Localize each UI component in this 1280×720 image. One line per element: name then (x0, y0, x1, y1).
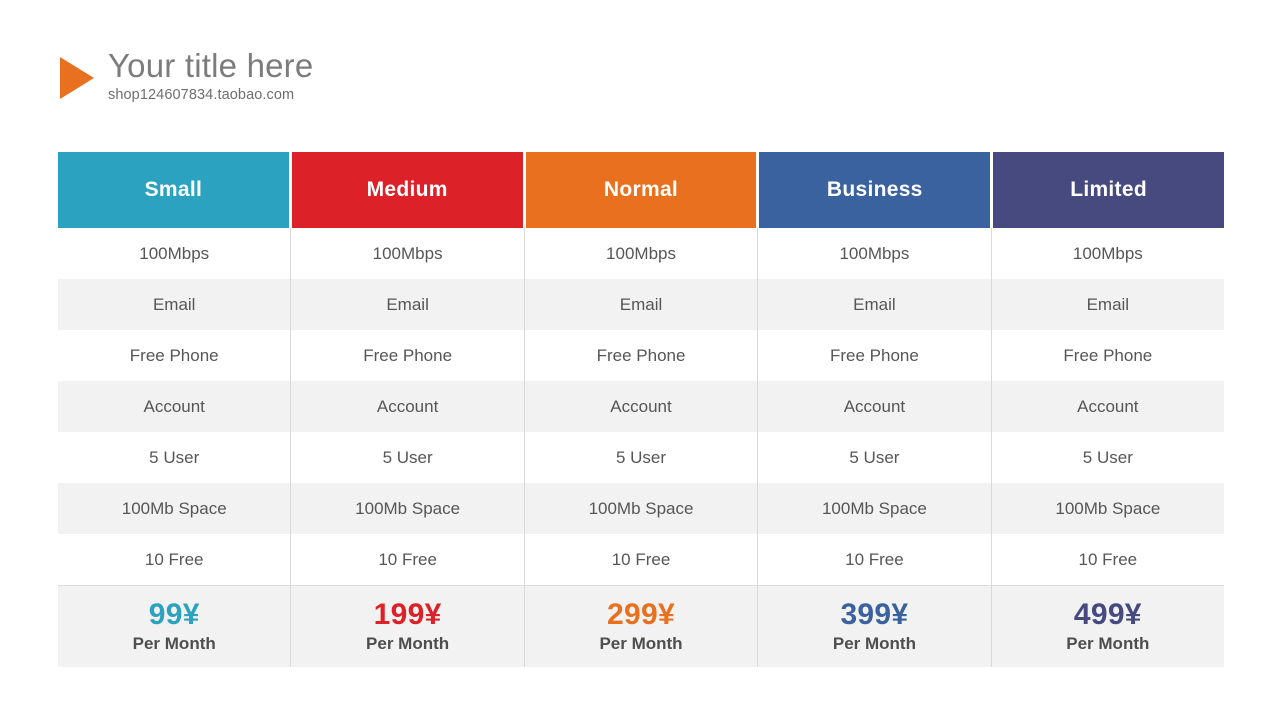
price-amount: 399¥ (840, 599, 908, 631)
title-block: Your title here shop124607834.taobao.com (60, 48, 313, 103)
table-cell: 5 User (525, 432, 758, 483)
table-cell: 10 Free (58, 534, 291, 585)
price-period-label: Per Month (833, 634, 916, 654)
table-cell: Free Phone (992, 330, 1224, 381)
slide-canvas: Your title here shop124607834.taobao.com… (0, 0, 1280, 720)
table-cell: Email (525, 279, 758, 330)
table-header-row: SmallMediumNormalBusinessLimited (58, 152, 1224, 228)
table-cell: 10 Free (992, 534, 1224, 585)
table-cell: 5 User (992, 432, 1224, 483)
price-cell[interactable]: 499¥Per Month (992, 586, 1224, 667)
table-column-header-normal[interactable]: Normal (526, 152, 757, 228)
price-cell[interactable]: 99¥Per Month (58, 586, 291, 667)
price-amount: 199¥ (374, 599, 442, 631)
table-cell: 10 Free (525, 534, 758, 585)
table-cell: Email (992, 279, 1224, 330)
price-amount: 299¥ (607, 599, 675, 631)
price-cell[interactable]: 199¥Per Month (291, 586, 524, 667)
table-row: 10 Free10 Free10 Free10 Free10 Free (58, 534, 1224, 585)
table-cell: Account (992, 381, 1224, 432)
table-row: EmailEmailEmailEmailEmail (58, 279, 1224, 330)
table-column-header-small[interactable]: Small (58, 152, 289, 228)
table-cell: 100Mbps (992, 228, 1224, 279)
table-cell: 100Mb Space (758, 483, 991, 534)
table-cell: 100Mbps (525, 228, 758, 279)
table-cell: Account (525, 381, 758, 432)
table-row: AccountAccountAccountAccountAccount (58, 381, 1224, 432)
page-title: Your title here (108, 48, 313, 85)
price-amount: 499¥ (1074, 599, 1142, 631)
title-text-group: Your title here shop124607834.taobao.com (108, 48, 313, 103)
table-row: 5 User5 User5 User5 User5 User (58, 432, 1224, 483)
table-body: 100Mbps100Mbps100Mbps100Mbps100MbpsEmail… (58, 228, 1224, 667)
table-cell: Free Phone (758, 330, 991, 381)
price-row: 99¥Per Month199¥Per Month299¥Per Month39… (58, 585, 1224, 667)
price-period-label: Per Month (599, 634, 682, 654)
price-cell[interactable]: 299¥Per Month (525, 586, 758, 667)
table-row: 100Mb Space100Mb Space100Mb Space100Mb S… (58, 483, 1224, 534)
table-cell: Email (291, 279, 524, 330)
table-cell: 10 Free (291, 534, 524, 585)
table-row: 100Mbps100Mbps100Mbps100Mbps100Mbps (58, 228, 1224, 279)
price-period-label: Per Month (1066, 634, 1149, 654)
table-cell: Account (758, 381, 991, 432)
table-row: Free PhoneFree PhoneFree PhoneFree Phone… (58, 330, 1224, 381)
table-cell: Account (58, 381, 291, 432)
price-amount: 99¥ (149, 599, 200, 631)
price-cell[interactable]: 399¥Per Month (758, 586, 991, 667)
table-column-header-business[interactable]: Business (759, 152, 990, 228)
table-cell: Free Phone (291, 330, 524, 381)
table-cell: 100Mb Space (58, 483, 291, 534)
table-cell: 100Mbps (58, 228, 291, 279)
table-cell: Account (291, 381, 524, 432)
table-cell: 100Mb Space (525, 483, 758, 534)
table-cell: 100Mbps (758, 228, 991, 279)
table-cell: Free Phone (525, 330, 758, 381)
table-column-header-medium[interactable]: Medium (292, 152, 523, 228)
price-period-label: Per Month (366, 634, 449, 654)
table-cell: 100Mb Space (291, 483, 524, 534)
page-subtitle: shop124607834.taobao.com (108, 87, 313, 103)
table-column-header-limited[interactable]: Limited (993, 152, 1224, 228)
table-cell: 5 User (58, 432, 291, 483)
table-cell: Email (58, 279, 291, 330)
table-cell: 5 User (291, 432, 524, 483)
table-cell: 100Mb Space (992, 483, 1224, 534)
price-period-label: Per Month (133, 634, 216, 654)
table-cell: Email (758, 279, 991, 330)
table-cell: Free Phone (58, 330, 291, 381)
table-cell: 100Mbps (291, 228, 524, 279)
table-cell: 5 User (758, 432, 991, 483)
play-triangle-icon (60, 57, 94, 99)
table-cell: 10 Free (758, 534, 991, 585)
pricing-table: SmallMediumNormalBusinessLimited 100Mbps… (58, 152, 1224, 667)
